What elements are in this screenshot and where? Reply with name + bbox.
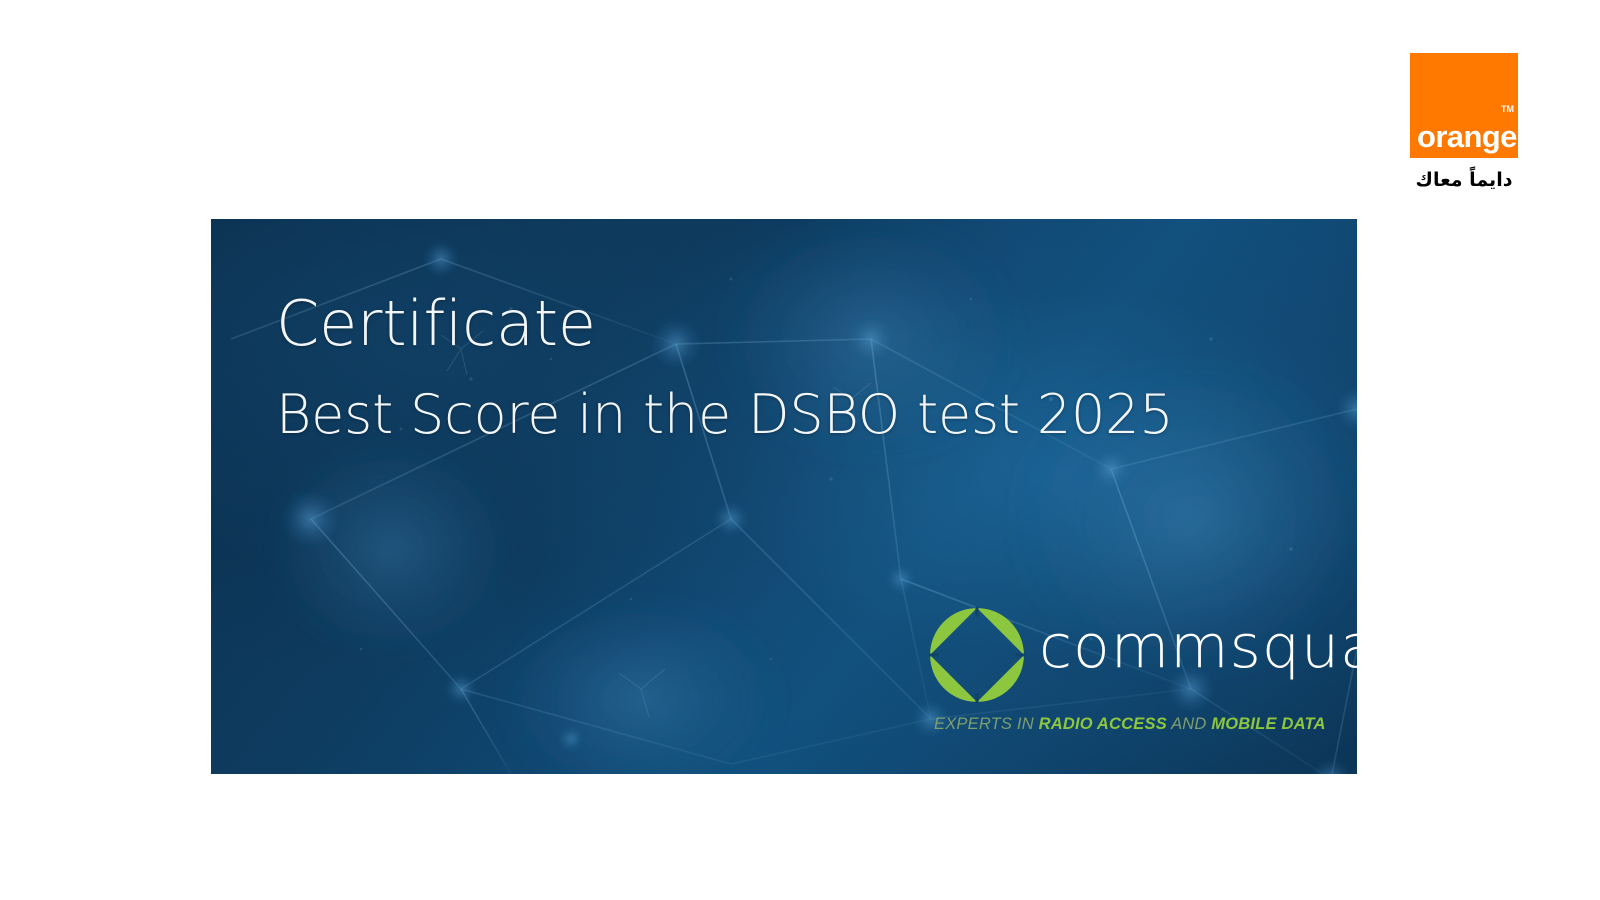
trademark-icon: TM <box>1501 105 1514 114</box>
tagline-segment-2: RADIO ACCESS <box>1039 715 1167 733</box>
banner-content: Certificate Best Score in the DSBO test … <box>211 219 1357 774</box>
tagline-segment-1: EXPERTS IN <box>934 715 1039 733</box>
slide-canvas: orange TM دايماً معاك <box>0 0 1600 900</box>
commsquare-mark-icon <box>929 607 1025 703</box>
tagline-segment-4: MOBILE DATA <box>1211 715 1325 733</box>
certificate-banner: Certificate Best Score in the DSBO test … <box>211 219 1357 774</box>
page-title: Certificate <box>276 291 596 356</box>
commsquare-logo: commsquare EXPERTS IN RADIO ACCESS AND M… <box>929 607 1334 737</box>
orange-arabic-tagline: دايماً معاك <box>1404 169 1524 191</box>
tagline-segment-3: AND <box>1167 715 1211 733</box>
orange-wordmark: orange <box>1417 121 1517 152</box>
orange-brand-logo: orange TM دايماً معاك <box>1410 53 1520 158</box>
page-subtitle: Best Score in the DSBO test 2025 <box>276 387 1173 444</box>
commsquare-tagline: EXPERTS IN RADIO ACCESS AND MOBILE DATA <box>934 715 1326 734</box>
commsquare-wordmark: commsquare <box>1039 617 1357 677</box>
orange-logo-square: orange TM <box>1410 53 1518 158</box>
